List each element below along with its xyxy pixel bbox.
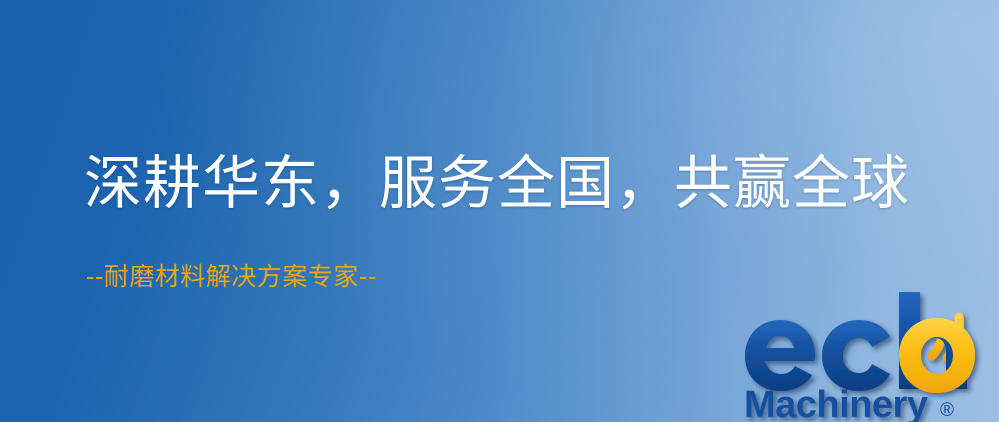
- logo-letter-e: [745, 320, 815, 391]
- banner-subtitle: --耐磨材料解决方案专家--: [86, 263, 377, 291]
- logo-svg: Machinery ®: [742, 292, 994, 422]
- hero-banner: 深耕华东，服务全国，共赢全球 --耐磨材料解决方案专家--: [0, 0, 999, 422]
- logo-wordmark-machinery: Machinery: [744, 384, 928, 422]
- logo-letter-c: [822, 320, 890, 391]
- banner-headline: 深耕华东，服务全国，共赢全球: [84, 152, 910, 215]
- logo-registered-mark: ®: [940, 400, 954, 421]
- echo-machinery-logo[interactable]: Machinery ®: [742, 292, 994, 422]
